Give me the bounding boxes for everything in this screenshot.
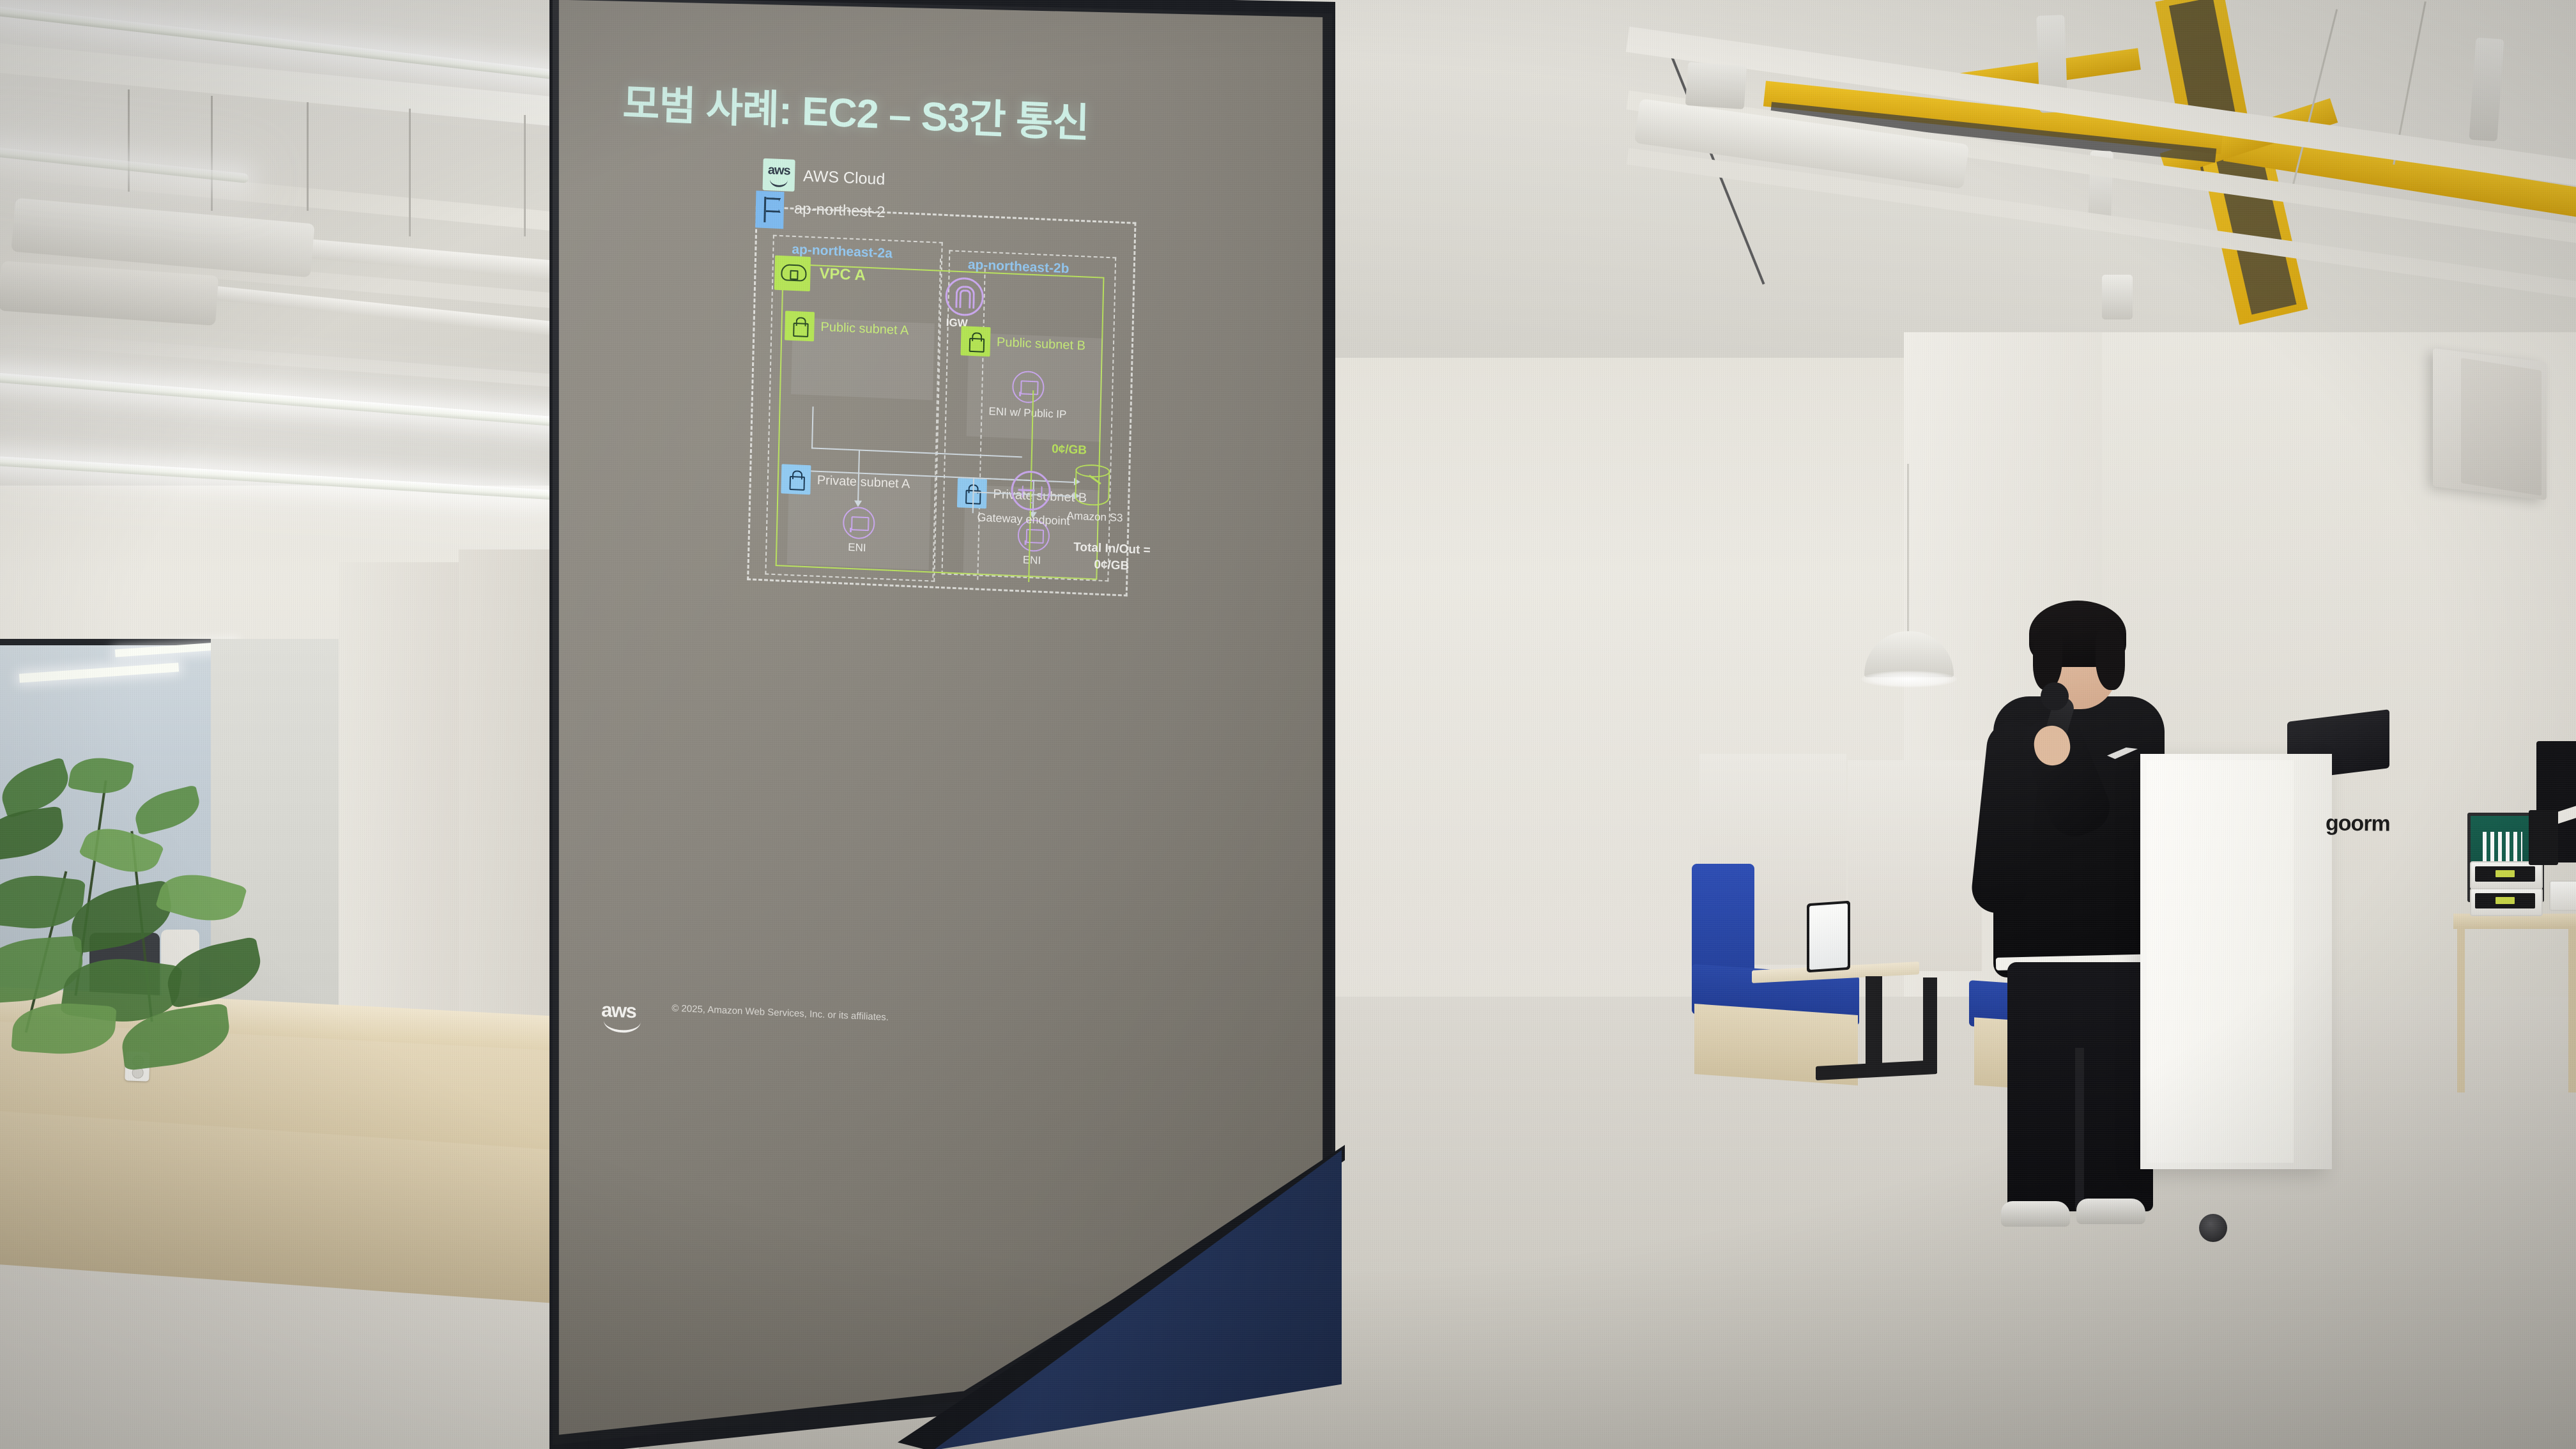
ceiling-rod xyxy=(524,115,526,236)
eni-card-shape xyxy=(851,516,869,531)
footer-aws-smile-icon xyxy=(603,1018,640,1033)
eni-card-shape xyxy=(1020,380,1038,395)
presenter-hair-side xyxy=(2096,629,2125,690)
aws-cloud-group: aws AWS Cloud xyxy=(763,158,885,195)
total-cost-label: Total In/Out = 0¢/GB xyxy=(1067,539,1157,576)
footer-copyright: © 2025, Amazon Web Services, Inc. or its… xyxy=(671,1003,889,1023)
total-line-1: Total In/Out = xyxy=(1073,540,1151,557)
ceiling-rod xyxy=(409,109,411,236)
podium-front-panel xyxy=(2147,760,2294,1163)
side-desk-leg xyxy=(2568,926,2576,1092)
private-subnet-a-lock-icon xyxy=(781,464,811,494)
lock-shackle xyxy=(792,470,802,480)
slide-title: 모범 사례: EC2 – S3간 통신 xyxy=(622,71,1089,149)
lock-shackle xyxy=(796,317,806,326)
potted-plant xyxy=(0,754,319,1061)
wall-pillar xyxy=(339,562,460,1073)
footer-aws-logo: aws xyxy=(601,999,650,1034)
aws-logo-icon: aws xyxy=(763,158,795,192)
podium-logo: goorm xyxy=(2326,811,2390,836)
presenter-shoe xyxy=(2001,1201,2070,1227)
eni-pin xyxy=(1025,540,1027,545)
eni-pin xyxy=(1019,392,1021,396)
booth-divider xyxy=(1848,760,1982,971)
flag-banner xyxy=(766,197,781,213)
vpc-cloud-icon xyxy=(774,256,811,291)
public-subnet-a-lock-icon xyxy=(785,310,815,341)
ceiling-rod xyxy=(128,89,130,192)
eni-pin xyxy=(850,528,852,532)
table-leg xyxy=(1866,976,1882,1073)
presenter-shoe xyxy=(2076,1199,2145,1224)
equipment-box xyxy=(2549,880,2576,911)
leg-seam xyxy=(2075,1048,2084,1211)
slide-content: 모범 사례: EC2 – S3간 통신 aws AWS Cloud ap-nor… xyxy=(548,13,1290,1186)
microphone-head xyxy=(2041,682,2069,710)
presenter-hair-side xyxy=(2033,629,2062,690)
pendant-lamp-cord xyxy=(1907,464,1909,636)
room-scene: goorm 모범 사례: EC2 – S3간 통신 aws AWS Cloud … xyxy=(0,0,2576,1449)
ceiling-spotlight xyxy=(1685,62,1747,109)
table-tablet[interactable] xyxy=(1807,901,1850,973)
endpoint-hex-shape xyxy=(1022,480,1043,503)
equipment-label xyxy=(2495,870,2515,877)
endpoint-arrow-shape xyxy=(1018,489,1035,491)
bucket-body xyxy=(1075,469,1110,506)
lock-shape xyxy=(790,270,798,280)
igw-arch-inner xyxy=(959,289,971,309)
projection-screen-assembly: 모범 사례: EC2 – S3간 통신 aws AWS Cloud ap-nor… xyxy=(549,0,1335,1449)
amazon-s3-label: Amazon S3 xyxy=(1066,509,1123,525)
table-leg xyxy=(1923,977,1937,1073)
aws-logo-text: aws xyxy=(763,163,795,179)
flag-pole xyxy=(763,197,766,222)
vpc-label: VPC A xyxy=(819,265,866,285)
aws-cloud-label: AWS Cloud xyxy=(803,167,885,188)
side-desk-leg xyxy=(2457,926,2465,1092)
equipment-label xyxy=(2495,897,2515,904)
network-switch xyxy=(2529,810,2558,865)
s3-bucket-icon xyxy=(1075,464,1107,505)
region-flag-icon xyxy=(755,190,784,229)
edge-rate-label: 0¢/GB xyxy=(1052,442,1087,457)
ceiling-rod xyxy=(307,102,309,211)
lock-shackle xyxy=(972,332,982,342)
pendant-lamp-glow xyxy=(1861,671,1957,687)
tablet-screen xyxy=(1809,903,1848,970)
ceiling-spotlight xyxy=(2102,275,2133,319)
speaker-grille xyxy=(2461,358,2541,496)
aws-smile-icon xyxy=(770,178,788,187)
public-subnet-b-lock-icon xyxy=(961,326,991,356)
connector-arrow xyxy=(854,500,862,507)
total-line-2: 0¢/GB xyxy=(1094,558,1129,572)
ceiling-rod xyxy=(211,96,213,211)
podium-cable-hole xyxy=(2199,1214,2227,1242)
